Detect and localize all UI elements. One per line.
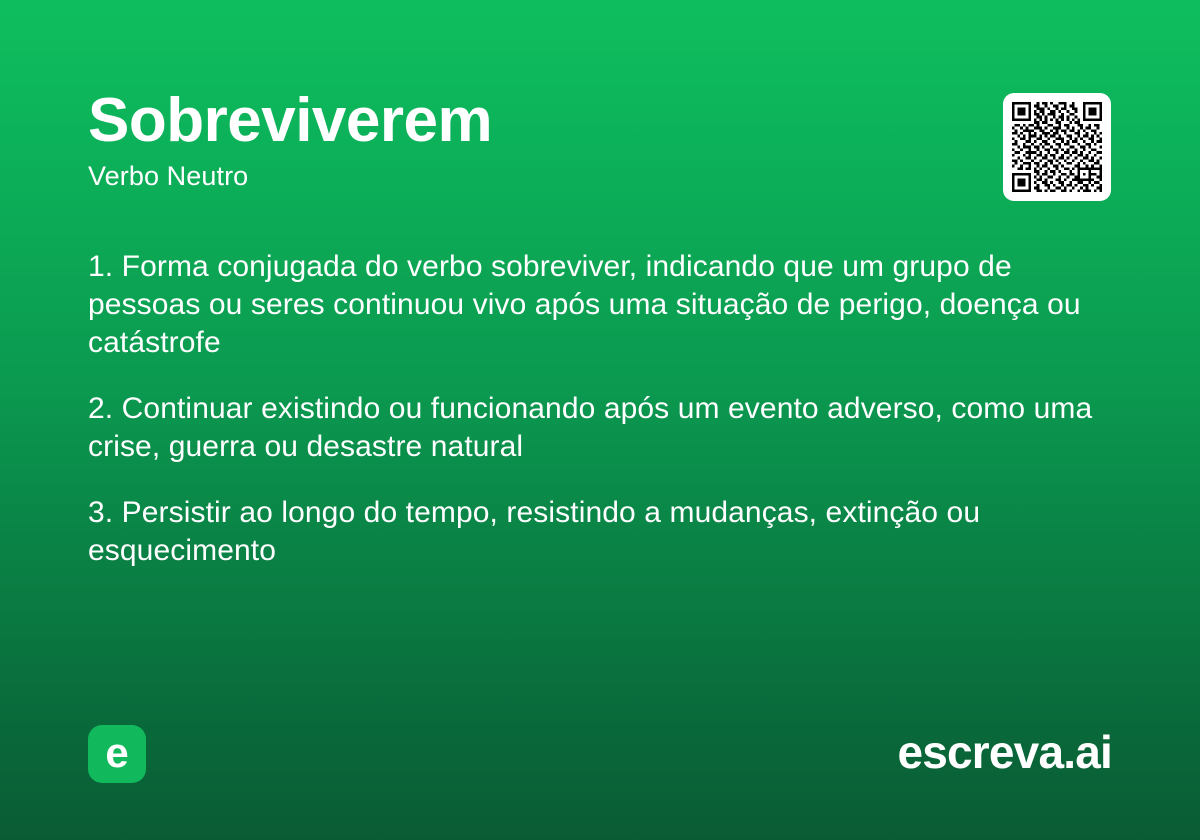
- qr-code-card[interactable]: [1003, 93, 1111, 201]
- brand-wordmark[interactable]: escreva.ai: [897, 722, 1112, 782]
- card-header: Sobreviverem Verbo Neutro: [88, 88, 968, 192]
- logo-letter: e: [88, 725, 146, 783]
- dictionary-card: Sobreviverem Verbo Neutro: [0, 0, 1200, 840]
- escreva-logo-icon[interactable]: e: [88, 725, 146, 783]
- page-title: Sobreviverem: [88, 88, 968, 153]
- definition-item: 1. Forma conjugada do verbo sobreviver, …: [88, 248, 1100, 362]
- word-class-label: Verbo Neutro: [88, 161, 968, 192]
- qr-code-icon: [1012, 102, 1102, 192]
- definitions-list: 1. Forma conjugada do verbo sobreviver, …: [88, 248, 1100, 570]
- definition-item: 3. Persistir ao longo do tempo, resistin…: [88, 494, 1100, 570]
- definition-item: 2. Continuar existindo ou funcionando ap…: [88, 390, 1100, 466]
